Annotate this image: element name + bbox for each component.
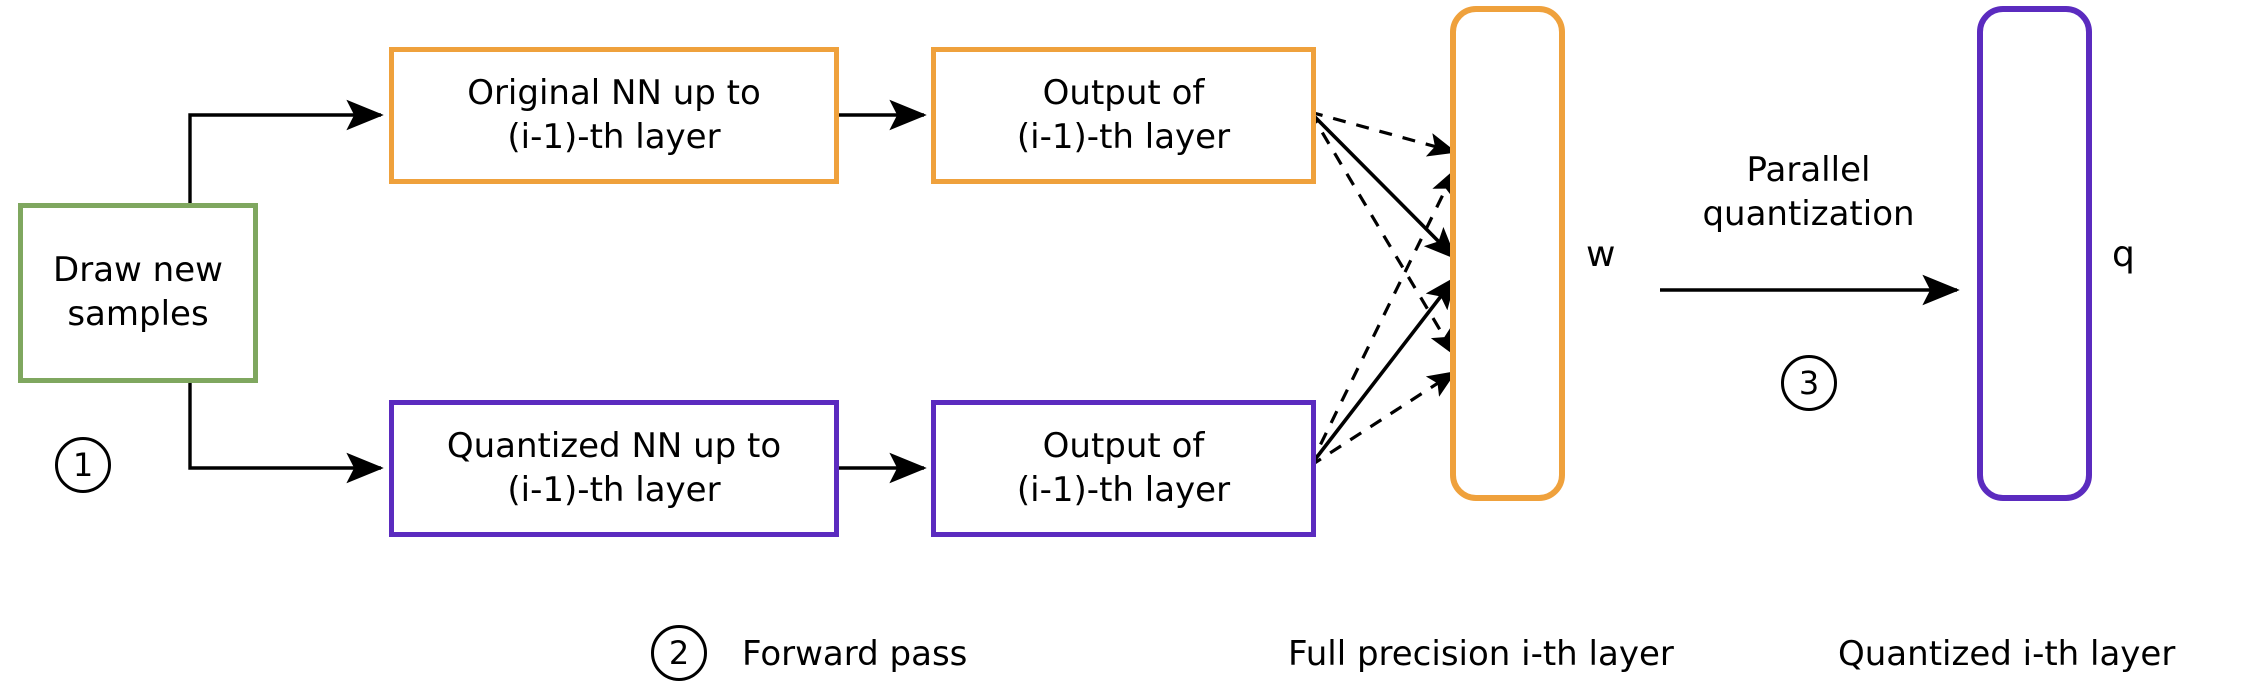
connector-samples-to-quantized-nn [190, 383, 381, 468]
connector-output-top-to-neuron-upper [1310, 112, 1455, 152]
box-draw-new-samples-line2: samples [67, 293, 208, 337]
caption-full-precision-layer: Full precision i-th layer [1288, 632, 1674, 676]
box-draw-new-samples-line1: Draw new [53, 249, 223, 293]
box-output-top-line2: (i-1)-th layer [1017, 116, 1230, 160]
box-quantized-nn-line1: Quantized NN up to [447, 425, 781, 469]
connector-output-top-to-neuron-middle [1310, 112, 1455, 258]
box-original-nn-line1: Original NN up to [467, 72, 761, 116]
diagram-canvas: Draw new samples Original NN up to (i-1)… [0, 0, 2244, 684]
connector-output-bottom-to-neuron-lower [1310, 372, 1455, 466]
column-quantized-layer[interactable] [1977, 6, 2092, 501]
box-quantized-nn-line2: (i-1)-th layer [507, 469, 720, 513]
step-marker-2: 2 [651, 625, 707, 681]
label-parallel-quantization-line1: Parallel [1660, 148, 1957, 192]
caption-quantized-layer: Quantized i-th layer [1838, 632, 2175, 676]
weight-symbol-w: w [1586, 232, 1615, 279]
box-output-bottom-line2: (i-1)-th layer [1017, 469, 1230, 513]
box-output-top[interactable]: Output of (i-1)-th layer [931, 47, 1316, 184]
label-parallel-quantization-line2: quantization [1660, 192, 1957, 236]
weight-symbol-q: q [2112, 232, 2135, 279]
box-original-nn[interactable]: Original NN up to (i-1)-th layer [389, 47, 839, 184]
step-marker-3: 3 [1781, 355, 1837, 411]
column-full-precision-layer[interactable] [1450, 6, 1565, 501]
connector-output-bottom-to-neuron-upper [1310, 170, 1455, 466]
connector-output-bottom-to-neuron-middle [1310, 278, 1455, 466]
box-draw-new-samples[interactable]: Draw new samples [18, 203, 258, 383]
box-original-nn-line2: (i-1)-th layer [507, 116, 720, 160]
box-output-bottom[interactable]: Output of (i-1)-th layer [931, 400, 1316, 537]
box-output-bottom-line1: Output of [1043, 425, 1205, 469]
box-output-top-line1: Output of [1043, 72, 1205, 116]
label-forward-pass: Forward pass [742, 632, 967, 676]
connector-output-top-to-neuron-lower [1310, 112, 1455, 355]
box-quantized-nn[interactable]: Quantized NN up to (i-1)-th layer [389, 400, 839, 537]
step-marker-1: 1 [55, 437, 111, 493]
